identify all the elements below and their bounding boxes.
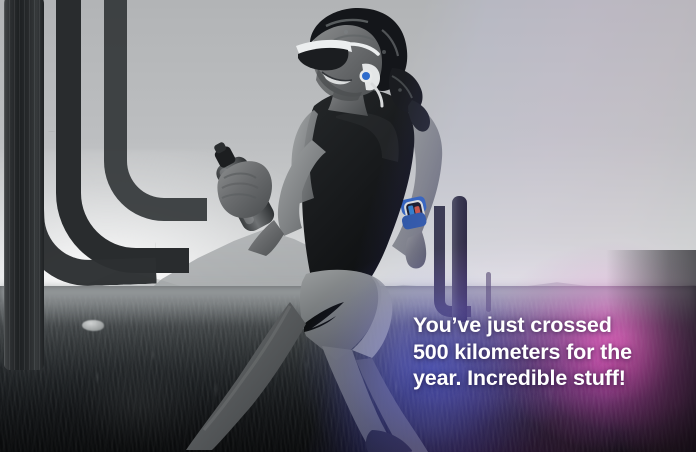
saguaro-cactus-left <box>4 0 44 370</box>
saguaro-cactus-distant <box>486 272 491 312</box>
smartwatch <box>400 195 428 230</box>
running-shorts <box>300 270 392 360</box>
message-line-2: 500 kilometers for the <box>413 339 683 366</box>
desert-rock <box>82 320 104 331</box>
runner-torso <box>291 89 414 290</box>
runner-front-leg <box>186 302 306 450</box>
message-line-1: You’ve just crossed <box>413 312 683 339</box>
running-achievement-banner: You’ve just crossed 500 kilometers for t… <box>0 0 696 452</box>
message-line-3: year. Incredible stuff! <box>413 365 683 392</box>
achievement-message: You’ve just crossed 500 kilometers for t… <box>413 312 683 392</box>
